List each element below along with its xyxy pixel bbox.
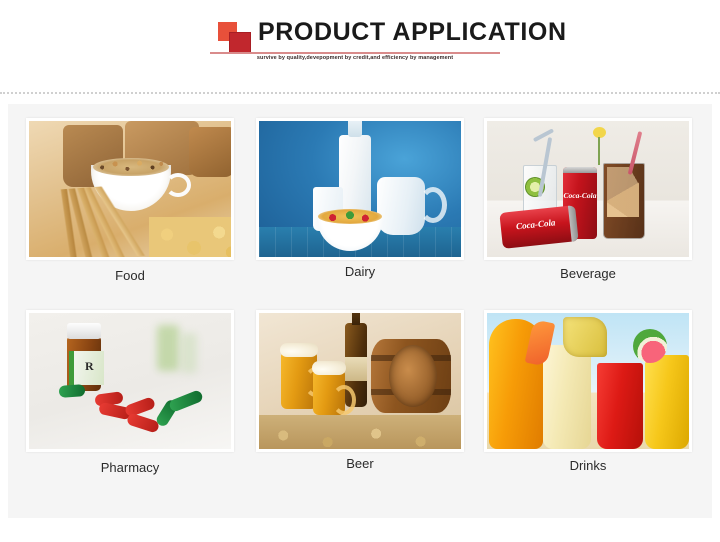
berries-garnish-icon [325, 211, 373, 223]
card-label-beverage: Beverage [484, 266, 692, 281]
thumbnail-frame [26, 118, 234, 260]
card-label-food: Food [26, 268, 234, 283]
thumbnail-frame [256, 118, 464, 260]
application-card-drinks[interactable]: Drinks [484, 310, 692, 473]
pineapple-garnish-icon [563, 317, 607, 357]
application-card-pharmacy[interactable]: R Pharmacy [26, 310, 234, 475]
food-photo [29, 121, 231, 257]
thumbnail-frame: R [26, 310, 234, 452]
milk-jug-icon [377, 177, 425, 235]
card-label-drinks: Drinks [484, 458, 692, 473]
barley-grain-icon [259, 415, 461, 449]
red-juice-glass-icon [597, 363, 643, 449]
bottle-cap-icon [67, 323, 101, 339]
yellow-juice-glass-icon [645, 355, 689, 449]
tagline: survive by quality,devepopment by credit… [210, 55, 500, 61]
thumbnail-frame: Coca‑Cola Coca‑Cola [484, 118, 692, 260]
prescription-r-mark: R [85, 359, 94, 374]
cola-can-wordmark: Coca‑Cola [504, 216, 567, 232]
burlap-sack-icon [189, 127, 231, 177]
dairy-photo [259, 121, 461, 257]
drinks-photo [487, 313, 689, 449]
flower-vase-icon [583, 127, 617, 167]
application-card-dairy[interactable]: Dairy [256, 118, 464, 279]
capsule-green-icon [168, 389, 204, 413]
beer-mug-icon [281, 353, 317, 409]
title-underline-rule [210, 52, 500, 54]
slide: PRODUCT APPLICATION survive by quality,d… [0, 0, 720, 542]
beverage-photo: Coca‑Cola Coca‑Cola [487, 121, 689, 257]
background-blur-shape [181, 333, 197, 373]
application-card-beverage[interactable]: Coca‑Cola Coca‑Cola Beverage [484, 118, 692, 281]
card-label-dairy: Dairy [256, 264, 464, 279]
capsule-red-icon [126, 412, 160, 433]
content-panel: Food Dairy [8, 104, 712, 518]
pharmacy-photo: R [29, 313, 231, 449]
thumbnail-frame [256, 310, 464, 452]
card-label-beer: Beer [256, 456, 464, 471]
application-card-beer[interactable]: Beer [256, 310, 464, 471]
red-squares-logo-icon [218, 22, 254, 54]
card-label-pharmacy: Pharmacy [26, 460, 234, 475]
beer-photo [259, 313, 461, 449]
ice-cubes-icon [607, 167, 639, 217]
slide-header: PRODUCT APPLICATION survive by quality,d… [0, 0, 720, 92]
background-blur-shape [157, 325, 179, 371]
bottle-label [345, 357, 367, 381]
page-title: PRODUCT APPLICATION [258, 18, 567, 47]
cola-can-wordmark: Coca‑Cola [563, 191, 597, 200]
header-divider [0, 92, 720, 94]
corn-flakes-icon [149, 217, 231, 257]
application-grid: Food Dairy [8, 104, 712, 518]
cereal-flakes-icon [95, 159, 167, 173]
barrel-end-icon [389, 345, 437, 407]
thumbnail-frame [484, 310, 692, 452]
watermelon-garnish-icon [633, 329, 667, 363]
beer-mug-icon [313, 371, 345, 415]
pina-colada-glass-icon [543, 345, 591, 449]
logo-square-dark [229, 32, 251, 54]
logo-block: PRODUCT APPLICATION survive by quality,d… [210, 14, 510, 74]
capsule-green-icon [59, 384, 86, 398]
cola-can-lying-icon: Coca‑Cola [499, 205, 578, 249]
application-card-food[interactable]: Food [26, 118, 234, 283]
